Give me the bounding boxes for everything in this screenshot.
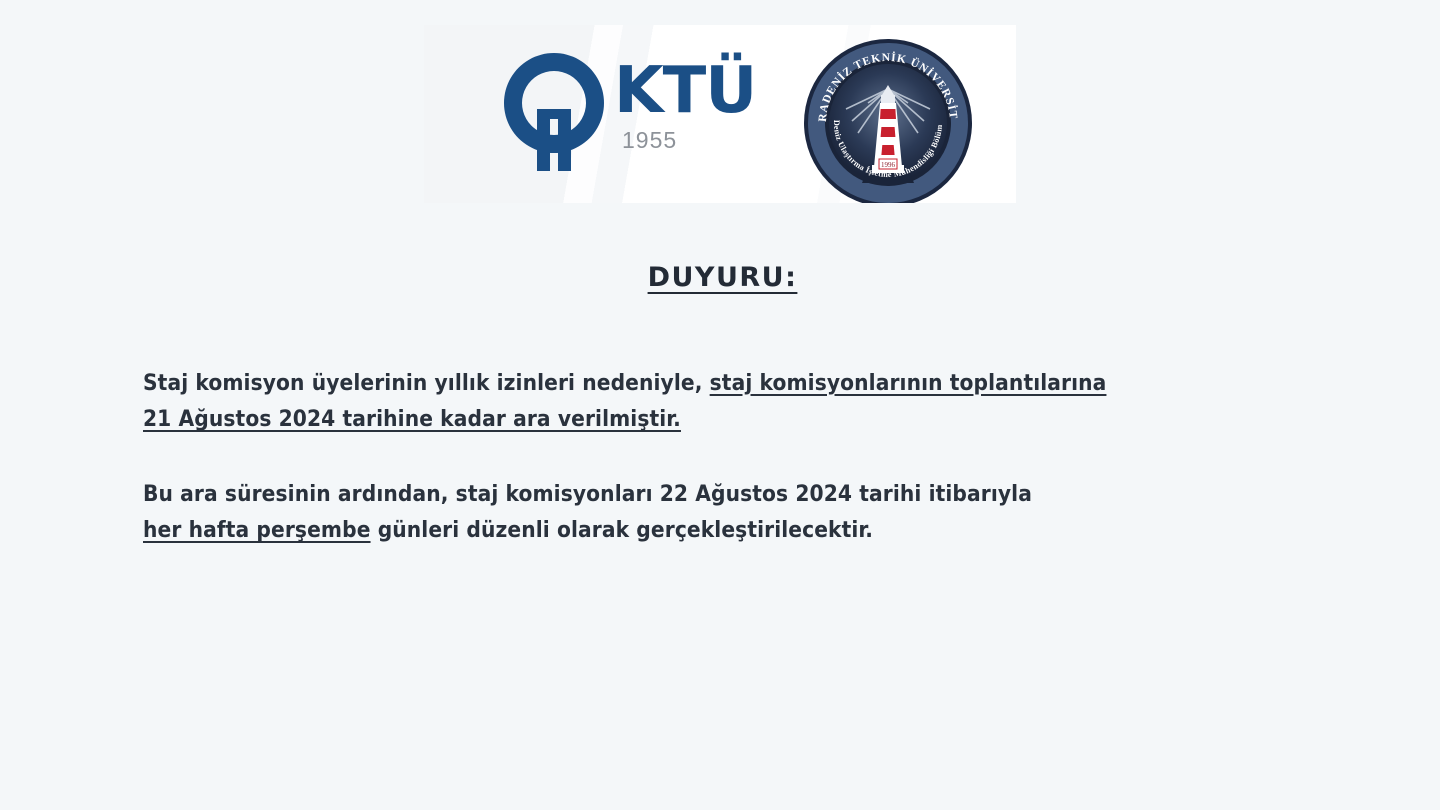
- paragraph-2-line-2: her hafta perşembe günleri düzenli olara…: [143, 512, 1298, 548]
- announcement-page: KTÜ 1955: [0, 0, 1440, 810]
- paragraph-1-lead: Staj komisyon üyelerinin yıllık izinleri…: [143, 370, 710, 396]
- seal-founding-year: 1996: [881, 161, 896, 169]
- paragraph-1-underlined-date-line: 21 Ağustos 2024 tarihine kadar ara veril…: [143, 406, 681, 432]
- paragraph-1-underlined-phrase: staj komisyonlarının toplantılarına: [710, 370, 1107, 396]
- department-seal-icon: 1996 KARADENİZ TEKNİK ÜNİVERSİTESİ Deniz…: [802, 37, 974, 203]
- ktu-founding-year: 1955: [622, 129, 677, 152]
- paragraph-2-line-1: Bu ara süresinin ardından, staj komisyon…: [143, 481, 1032, 507]
- announcement-body: DUYURU: Staj komisyon üyelerinin yıllık …: [143, 262, 1298, 549]
- ktu-wordmark: KTÜ: [614, 59, 756, 123]
- announcement-title: DUYURU:: [147, 262, 1298, 293]
- ktu-circular-mark-icon: [492, 47, 616, 171]
- announcement-paragraph-2: Bu ara süresinin ardından, staj komisyon…: [143, 476, 1298, 549]
- logo-banner: KTÜ 1955: [424, 25, 1016, 203]
- paragraph-2-line-2-rest: günleri düzenli olarak gerçekleştirilece…: [371, 517, 874, 543]
- announcement-paragraph-1: Staj komisyon üyelerinin yıllık izinleri…: [143, 365, 1298, 438]
- paragraph-2-underlined-phrase: her hafta perşembe: [143, 517, 371, 543]
